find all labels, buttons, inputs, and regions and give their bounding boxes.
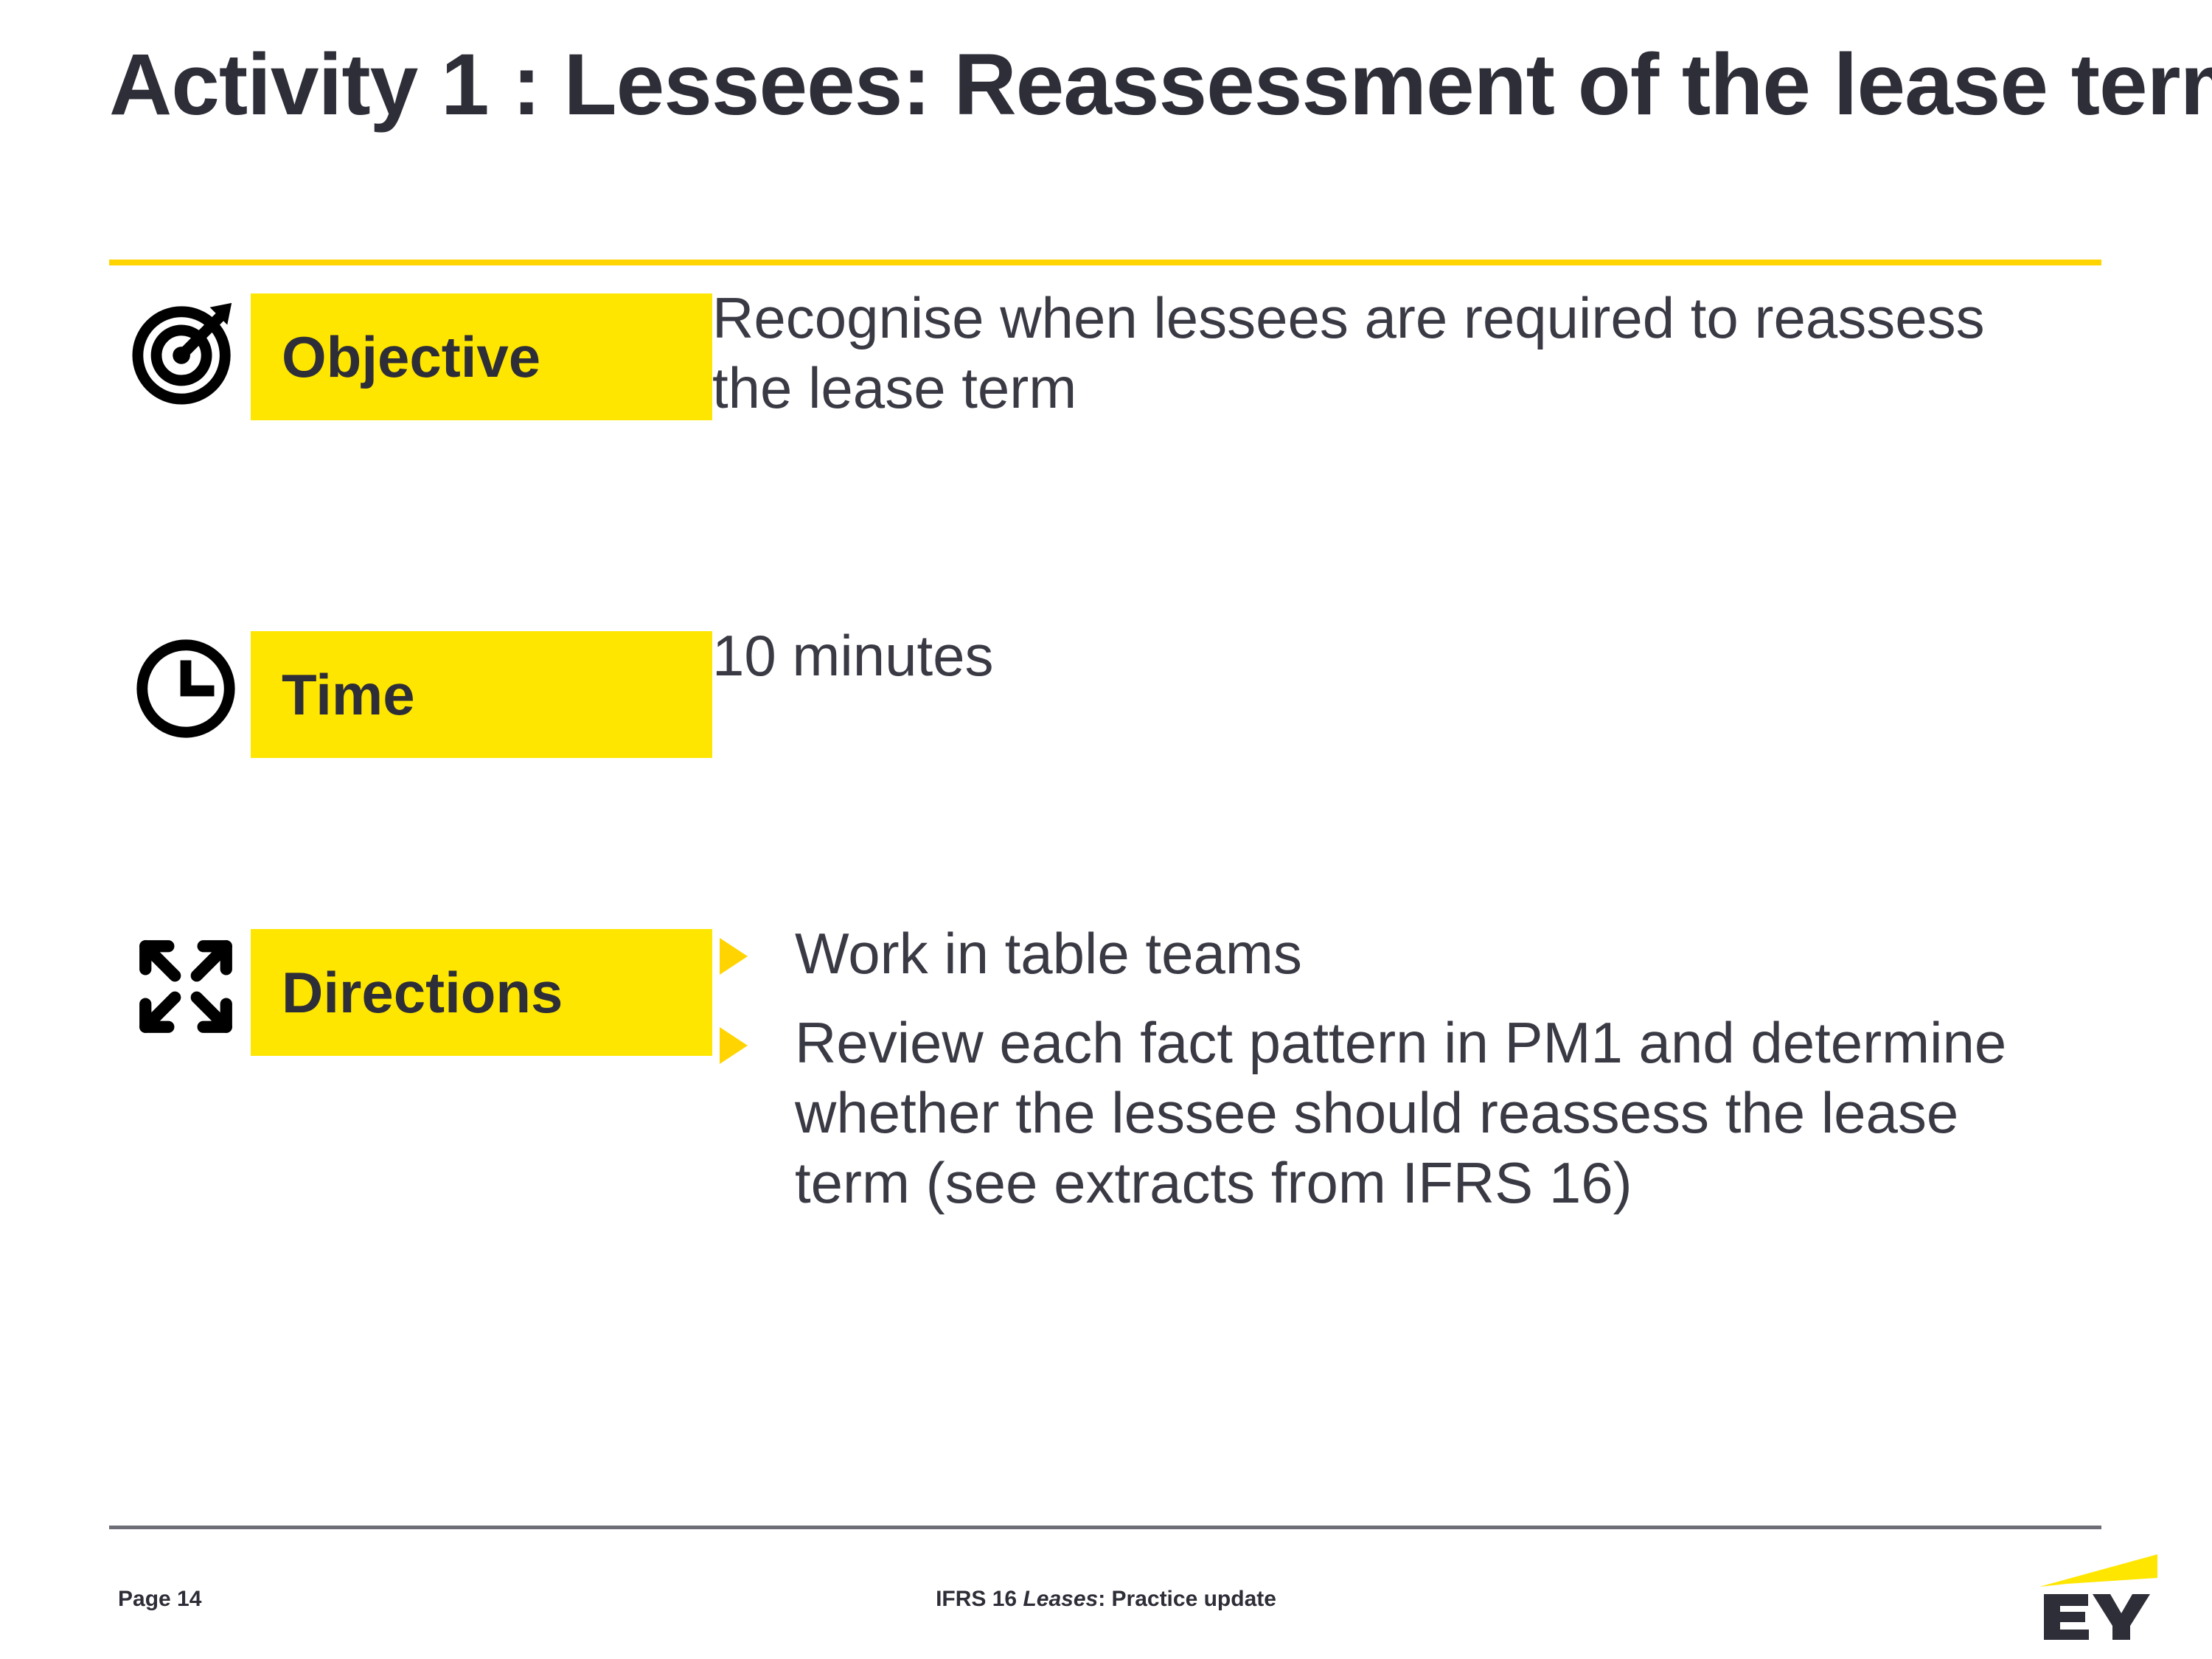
- objective-label-box: Objective: [251, 293, 712, 420]
- objective-body-text: Recognise when lessees are required to r…: [712, 283, 2010, 423]
- time-label-box: Time: [251, 631, 712, 758]
- footer-prefix: IFRS 16: [936, 1587, 1023, 1611]
- list-item: Work in table teams: [712, 919, 2010, 989]
- time-label: Time: [251, 666, 415, 723]
- directions-label-box: Directions: [251, 929, 712, 1056]
- target-bullseye-arrow-icon: [131, 296, 240, 406]
- triangle-bullet-icon: [720, 938, 748, 975]
- objective-label: Objective: [251, 328, 540, 386]
- list-item-text: Review each fact pattern in PM1 and dete…: [795, 1010, 2006, 1215]
- directions-bullet-list: Work in table teams Review each fact pat…: [712, 919, 2010, 1219]
- directions-label: Directions: [251, 964, 563, 1021]
- triangle-bullet-icon: [720, 1027, 748, 1064]
- title-divider: [109, 260, 2101, 265]
- footer-italic: Leases: [1023, 1587, 1098, 1611]
- list-item: Review each fact pattern in PM1 and dete…: [712, 1008, 2010, 1218]
- footer-divider: [109, 1526, 2101, 1529]
- time-body-text: 10 minutes: [712, 621, 2010, 691]
- ey-logo: [2034, 1540, 2163, 1640]
- footer-suffix: : Practice update: [1098, 1587, 1276, 1611]
- expand-arrows-icon: [131, 932, 240, 1041]
- clock-icon: [131, 634, 240, 743]
- footer-deck-title: IFRS 16 Leases: Practice update: [0, 1587, 2212, 1612]
- list-item-text: Work in table teams: [795, 921, 1302, 986]
- page-title: Activity 1 : Lessees: Reassessment of th…: [109, 35, 2144, 136]
